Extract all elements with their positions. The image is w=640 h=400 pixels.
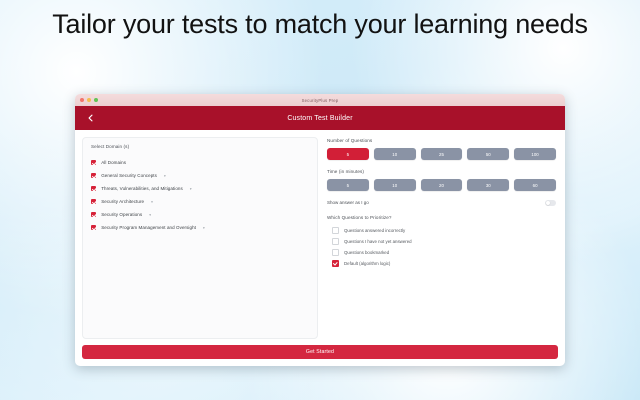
prioritize-option-not-yet-answered[interactable]: Questions I have not yet answered — [327, 236, 556, 247]
number-of-questions-options: 5 10 25 50 100 — [327, 148, 556, 160]
time-option-10[interactable]: 10 — [374, 179, 416, 191]
domain-row-security-architecture[interactable]: Security Architecture ▾ — [91, 195, 309, 208]
domain-row-threats-vulnerabilities-mitigations[interactable]: Threats, Vulnerabilities, and Mitigation… — [91, 182, 309, 195]
checkbox-icon[interactable] — [91, 186, 96, 191]
window-title: SecurityPlus Prep — [75, 98, 565, 103]
prioritize-label: Which Questions to Prioritize? — [327, 215, 556, 220]
window-footer: Get Started — [75, 339, 565, 366]
select-domain-label: Select Domain (s) — [91, 144, 309, 149]
time-option-30[interactable]: 30 — [467, 179, 509, 191]
builder-body: Select Domain (s) All Domains General Se… — [75, 130, 565, 339]
checkbox-icon[interactable] — [91, 160, 96, 165]
page-headline: Tailor your tests to match your learning… — [0, 8, 640, 41]
checkbox-icon[interactable] — [91, 173, 96, 178]
time-option-20[interactable]: 20 — [421, 179, 463, 191]
time-in-minutes-label: Time (in minutes) — [327, 169, 556, 174]
prioritize-option-label: Questions bookmarked — [344, 250, 389, 255]
domain-row-general-security-concepts[interactable]: General Security Concepts ▾ — [91, 169, 309, 182]
domain-label: General Security Concepts — [101, 173, 157, 178]
question-count-option-100[interactable]: 100 — [514, 148, 556, 160]
app-window: SecurityPlus Prep Custom Test Builder Se… — [75, 94, 565, 366]
radio-icon[interactable] — [332, 260, 339, 267]
domain-row-security-program-management-and-oversight[interactable]: Security Program Management and Oversigh… — [91, 221, 309, 234]
chevron-down-icon[interactable]: ▾ — [203, 226, 205, 230]
time-option-5[interactable]: 5 — [327, 179, 369, 191]
time-option-60[interactable]: 60 — [514, 179, 556, 191]
show-answer-row: Show answer as I go — [327, 200, 556, 206]
radio-icon[interactable] — [332, 238, 339, 245]
question-count-option-50[interactable]: 50 — [467, 148, 509, 160]
question-count-option-10[interactable]: 10 — [374, 148, 416, 160]
question-count-option-25[interactable]: 25 — [421, 148, 463, 160]
domain-label: Security Operations — [101, 212, 142, 217]
radio-icon[interactable] — [332, 227, 339, 234]
show-answer-label: Show answer as I go — [327, 200, 369, 205]
time-options: 5 10 20 30 60 — [327, 179, 556, 191]
prioritize-option-label: Questions answered incorrectly — [344, 228, 405, 233]
checkbox-icon[interactable] — [91, 212, 96, 217]
prioritize-option-answered-incorrectly[interactable]: Questions answered incorrectly — [327, 225, 556, 236]
show-answer-toggle[interactable] — [545, 200, 556, 206]
app-header-bar: Custom Test Builder — [75, 106, 565, 130]
radio-icon[interactable] — [332, 249, 339, 256]
domain-selection-panel: Select Domain (s) All Domains General Se… — [82, 137, 318, 339]
checkbox-icon[interactable] — [91, 225, 96, 230]
chevron-down-icon[interactable]: ▾ — [149, 213, 151, 217]
domain-label: Security Program Management and Oversigh… — [101, 225, 196, 230]
domain-row-all-domains[interactable]: All Domains — [91, 156, 309, 169]
domain-label: Security Architecture — [101, 199, 144, 204]
question-count-option-5[interactable]: 5 — [327, 148, 369, 160]
prioritize-option-label: Default (algorithm logic) — [344, 261, 390, 266]
chevron-down-icon[interactable]: ▾ — [190, 187, 192, 191]
number-of-questions-label: Number of Questions — [327, 138, 556, 143]
domain-label: All Domains — [101, 160, 126, 165]
domain-row-security-operations[interactable]: Security Operations ▾ — [91, 208, 309, 221]
prioritize-option-label: Questions I have not yet answered — [344, 239, 412, 244]
test-options-panel: Number of Questions 5 10 25 50 100 Time … — [325, 137, 558, 339]
get-started-button[interactable]: Get Started — [82, 345, 558, 359]
checkbox-icon[interactable] — [91, 199, 96, 204]
prioritize-option-bookmarked[interactable]: Questions bookmarked — [327, 247, 556, 258]
window-titlebar: SecurityPlus Prep — [75, 94, 565, 106]
chevron-down-icon[interactable]: ▾ — [151, 200, 153, 204]
chevron-down-icon[interactable]: ▾ — [164, 174, 166, 178]
app-page-title: Custom Test Builder — [75, 115, 565, 122]
prioritize-option-default[interactable]: Default (algorithm logic) — [327, 258, 556, 269]
domain-label: Threats, Vulnerabilities, and Mitigation… — [101, 186, 183, 191]
